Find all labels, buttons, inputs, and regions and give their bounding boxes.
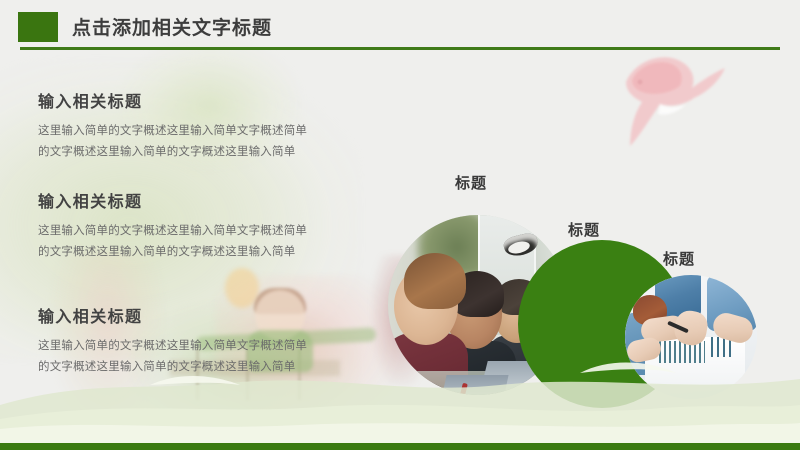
- circle-2-label: 标题: [568, 219, 600, 240]
- content-block-3-body-line-2: 的文字概述这里输入简单的文字概述这里输入简单: [38, 357, 383, 378]
- content-block-1-heading: 输入相关标题: [38, 88, 383, 112]
- circle-3-label: 标题: [663, 248, 695, 269]
- circle-1-laptop-left: [441, 375, 508, 395]
- content-block-2: 输入相关标题 这里输入简单的文字概述这里输入简单文字概述简单 的文字概述这里输入…: [38, 188, 383, 264]
- circle-1-person-1-hair: [404, 253, 466, 309]
- content-block-2-body-line-2: 的文字概述这里输入简单的文字概述这里输入简单: [38, 242, 383, 263]
- content-block-1-body-line-2: 的文字概述这里输入简单的文字概述这里输入简单: [38, 142, 383, 163]
- content-block-2-heading: 输入相关标题: [38, 188, 383, 212]
- content-block-3-heading: 输入相关标题: [38, 303, 383, 327]
- content-block-3: 输入相关标题 这里输入简单的文字概述这里输入简单文字概述简单 的文字概述这里输入…: [38, 303, 383, 379]
- content-block-3-body-line-1: 这里输入简单的文字概述这里输入简单文字概述简单: [38, 336, 383, 357]
- content-block-2-body: 这里输入简单的文字概述这里输入简单文字概述简单 的文字概述这里输入简单的文字概述…: [38, 221, 383, 264]
- header-divider: [20, 47, 780, 50]
- footer-bar: [0, 443, 800, 450]
- circle-3-document-chart: [659, 341, 705, 363]
- content-block-1: 输入相关标题 这里输入简单的文字概述这里输入简单文字概述简单 的文字概述这里输入…: [38, 88, 383, 164]
- content-block-3-body: 这里输入简单的文字概述这里输入简单文字概述简单 的文字概述这里输入简单的文字概述…: [38, 336, 383, 379]
- header-square-marker: [18, 12, 58, 42]
- content-block-2-body-line-1: 这里输入简单的文字概述这里输入简单文字概述简单: [38, 221, 383, 242]
- content-block-1-body-line-1: 这里输入简单的文字概述这里输入简单文字概述简单: [38, 121, 383, 142]
- page-title: 点击添加相关文字标题: [72, 13, 272, 40]
- slide-canvas: 点击添加相关文字标题 输入相关标题 这里输入简单的文字概述这里输入简单文字概述简…: [0, 0, 800, 450]
- circle-1-label: 标题: [455, 172, 487, 193]
- bird-icon: [608, 46, 726, 146]
- content-block-1-body: 这里输入简单的文字概述这里输入简单文字概述简单 的文字概述这里输入简单的文字概述…: [38, 121, 383, 164]
- watercolor-balloon: [225, 268, 259, 308]
- circle-photo-hands-documents[interactable]: [625, 275, 757, 399]
